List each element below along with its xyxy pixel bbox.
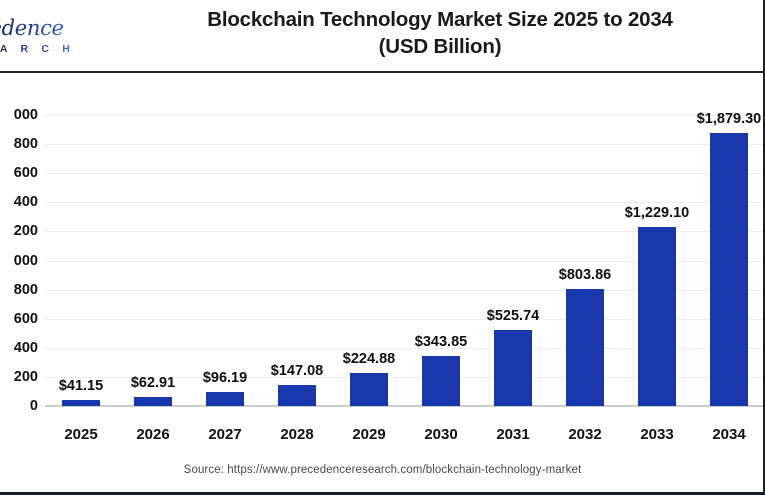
chart-plot-area: 0008006004002000008006004002000 $41.1520… bbox=[0, 73, 765, 458]
precedence-research-logo: cedence E A R C H bbox=[0, 18, 98, 60]
y-axis-tick-label: 200 bbox=[0, 369, 38, 385]
bar[interactable] bbox=[494, 330, 532, 406]
bar-value-label: $224.88 bbox=[343, 351, 395, 367]
y-axis-tick-label: 600 bbox=[0, 311, 38, 327]
source-caption: Source: https://www.precedenceresearch.c… bbox=[0, 464, 765, 476]
bar-group[interactable]: $1,229.102033 bbox=[621, 73, 693, 458]
bar-value-label: $343.85 bbox=[415, 334, 467, 350]
y-axis-tick-label: 200 bbox=[0, 223, 38, 239]
bar-series: $41.152025$62.912026$96.192027$147.08202… bbox=[45, 73, 765, 458]
bar-value-label: $1,229.10 bbox=[625, 205, 690, 221]
bar-value-label: $147.08 bbox=[271, 363, 323, 379]
x-axis-tick-label: 2027 bbox=[208, 426, 241, 443]
bar[interactable] bbox=[134, 397, 172, 406]
bar-group[interactable]: $525.742031 bbox=[477, 73, 549, 458]
x-axis-tick-label: 2028 bbox=[280, 426, 313, 443]
x-axis-tick-label: 2030 bbox=[424, 426, 457, 443]
y-axis-tick-label: 800 bbox=[0, 282, 38, 298]
bar[interactable] bbox=[638, 227, 676, 406]
x-axis-tick-label: 2026 bbox=[136, 426, 169, 443]
y-axis-tick-label: 000 bbox=[0, 107, 38, 123]
chart-screenshot: cedence E A R C H Blockchain Technology … bbox=[0, 0, 765, 495]
bar[interactable] bbox=[710, 133, 748, 406]
bar-value-label: $62.91 bbox=[131, 375, 175, 391]
bar-group[interactable]: $147.082028 bbox=[261, 73, 333, 458]
title-line-2: (USD Billion) bbox=[120, 33, 760, 60]
bar-group[interactable]: $224.882029 bbox=[333, 73, 405, 458]
bar[interactable] bbox=[350, 373, 388, 406]
bar-value-label: $96.19 bbox=[203, 370, 247, 386]
y-axis-tick-label: 0 bbox=[0, 398, 38, 414]
logo-subtext: E A R C H bbox=[0, 44, 98, 55]
bar-value-label: $803.86 bbox=[559, 267, 611, 283]
bar-group[interactable]: $62.912026 bbox=[117, 73, 189, 458]
logo-wordmark: cedence bbox=[0, 18, 98, 39]
title-line-1: Blockchain Technology Market Size 2025 t… bbox=[120, 6, 760, 33]
x-axis-tick-label: 2032 bbox=[568, 426, 601, 443]
bar-group[interactable]: $41.152025 bbox=[45, 73, 117, 458]
bar-group[interactable]: $803.862032 bbox=[549, 73, 621, 458]
bar-value-label: $525.74 bbox=[487, 308, 539, 324]
chart-header: cedence E A R C H Blockchain Technology … bbox=[0, 0, 765, 73]
y-axis-tick-label: 600 bbox=[0, 165, 38, 181]
bar-group[interactable]: $1,879.302034 bbox=[693, 73, 765, 458]
x-axis-tick-label: 2033 bbox=[640, 426, 673, 443]
bar[interactable] bbox=[62, 400, 100, 406]
bar-group[interactable]: $343.852030 bbox=[405, 73, 477, 458]
bar-group[interactable]: $96.192027 bbox=[189, 73, 261, 458]
bar[interactable] bbox=[422, 356, 460, 406]
x-axis-tick-label: 2031 bbox=[496, 426, 529, 443]
x-axis-tick-label: 2034 bbox=[712, 426, 745, 443]
y-axis-tick-label: 400 bbox=[0, 194, 38, 210]
x-axis-tick-label: 2025 bbox=[64, 426, 97, 443]
bar-value-label: $41.15 bbox=[59, 378, 103, 394]
bar[interactable] bbox=[566, 289, 604, 406]
x-axis-tick-label: 2029 bbox=[352, 426, 385, 443]
bar-value-label: $1,879.30 bbox=[697, 111, 762, 127]
y-axis-tick-label: 800 bbox=[0, 136, 38, 152]
y-axis-tick-label: 400 bbox=[0, 340, 38, 356]
bar[interactable] bbox=[278, 385, 316, 406]
bar[interactable] bbox=[206, 392, 244, 406]
y-axis-tick-label: 000 bbox=[0, 253, 38, 269]
page-title: Blockchain Technology Market Size 2025 t… bbox=[120, 6, 760, 60]
